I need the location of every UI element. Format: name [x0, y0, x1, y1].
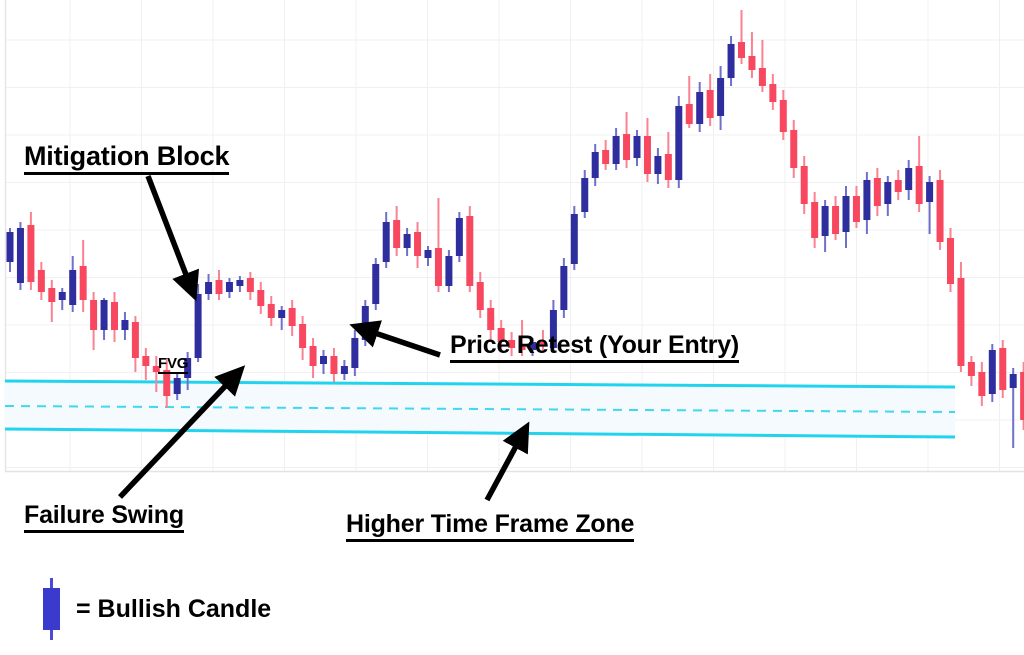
chart-stage: Mitigation Block FVG Price Retest (Your … [0, 0, 1024, 655]
annotation-failure-swing: Failure Swing [24, 503, 184, 533]
annotation-fvg: FVG [158, 356, 188, 374]
candlestick-chart [0, 0, 1024, 655]
legend-candle-body [43, 588, 60, 630]
annotation-price-retest: Price Retest (Your Entry) [450, 333, 739, 363]
annotation-higher-time-frame-zone: Higher Time Frame Zone [346, 512, 634, 542]
legend-label: = Bullish Candle [76, 595, 271, 624]
higher-time-frame-zone [5, 381, 955, 437]
chart-legend: = Bullish Candle [40, 578, 271, 640]
annotation-mitigation-block: Mitigation Block [24, 143, 229, 175]
bullish-candle-icon [40, 578, 62, 640]
